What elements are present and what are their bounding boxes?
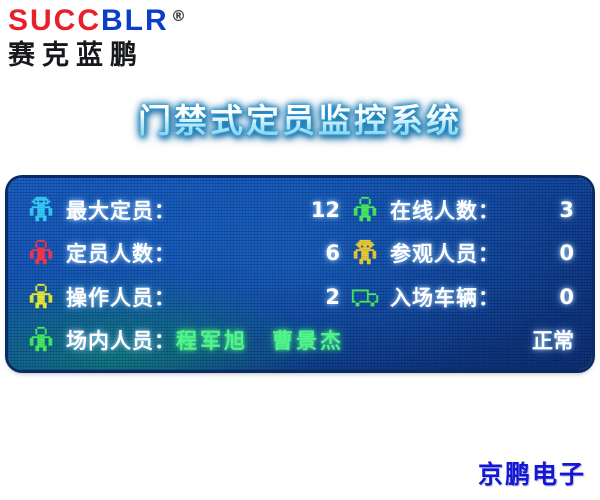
company-logo: SUCCBLR ® 赛克蓝鹏 [8, 4, 208, 74]
status-badge: 正常 [532, 325, 578, 355]
led-label-onsite-personnel: 场内人员： [66, 325, 176, 355]
led-value-vehicles: 0 [559, 285, 578, 309]
led-value-visitors: 0 [559, 241, 578, 265]
led-row-vehicles: 入场车辆： 0 [350, 275, 578, 319]
registered-trademark-icon: ® [171, 9, 188, 24]
led-row-max-capacity: 最大定员： 12 [26, 188, 344, 232]
led-label-online-count: 在线人数： [390, 195, 500, 225]
led-row-visitors: 参观人员： 0 [350, 232, 578, 276]
logo-chinese-text: 赛克蓝鹏 [8, 40, 208, 72]
led-label-vehicles: 入场车辆： [390, 282, 500, 312]
led-row-online-count: 在线人数： 3 [350, 188, 578, 232]
led-label-operators: 操作人员： [66, 282, 176, 312]
led-row-status: 正常 [350, 319, 578, 363]
person-icon [26, 282, 56, 312]
led-display-grid: 最大定员： 12 [8, 178, 592, 370]
led-row-staffed-count: 定员人数： 6 [26, 232, 344, 276]
led-label-staffed-count: 定员人数： [66, 238, 176, 268]
led-row-onsite-personnel: 场内人员： 程军旭 曹景杰 [26, 319, 344, 363]
led-value-online-count: 3 [559, 198, 578, 222]
person-cap-icon [26, 195, 56, 225]
led-label-visitors: 参观人员： [390, 238, 500, 268]
page-title: 门禁式定员监控系统 [0, 94, 600, 142]
person-icon [26, 325, 56, 355]
led-display-panel: 最大定员： 12 [8, 178, 592, 370]
footer-brand-text: 京鹏电子 [478, 455, 586, 491]
led-value-operators: 2 [325, 285, 344, 309]
led-value-staffed-count: 6 [325, 241, 344, 265]
logo-latin-part1: SUCC [8, 4, 101, 37]
led-value-max-capacity: 12 [311, 198, 344, 222]
led-value-onsite-names: 程军旭 曹景杰 [176, 325, 344, 355]
truck-icon [350, 282, 380, 312]
person-helmet-icon [350, 238, 380, 268]
person-icon [26, 238, 56, 268]
person-icon [350, 195, 380, 225]
logo-latin-part2: BLR [101, 4, 169, 37]
logo-latin-text: SUCCBLR ® [8, 4, 208, 38]
led-label-max-capacity: 最大定员： [66, 195, 176, 225]
led-row-operators: 操作人员： 2 [26, 275, 344, 319]
